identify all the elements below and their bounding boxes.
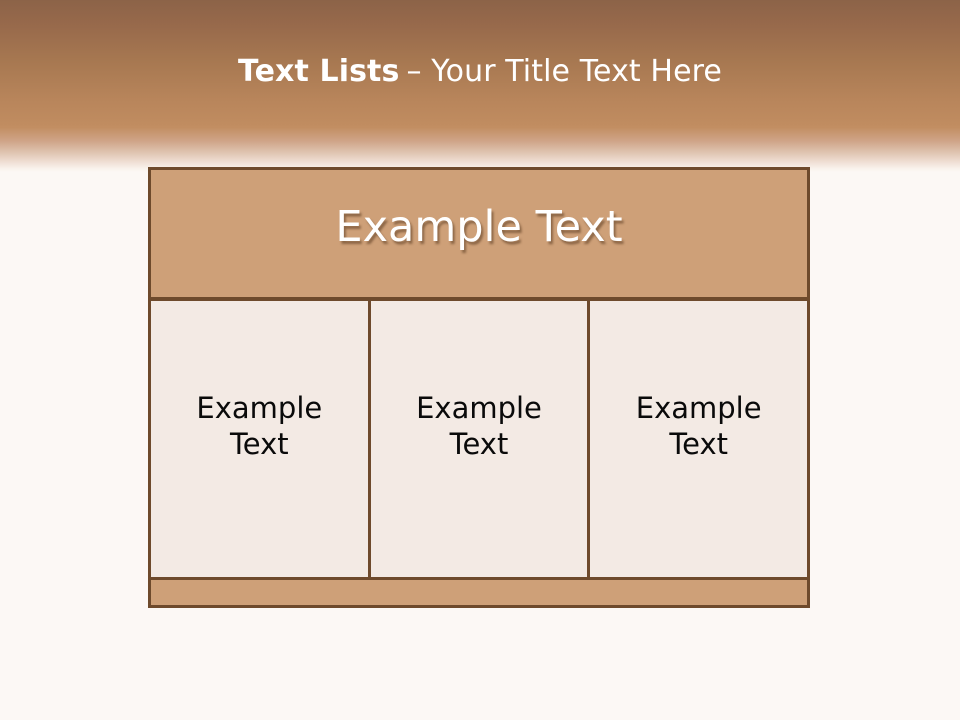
page-title-strong: Text Lists [238,54,399,89]
table-cell-1-label: Example Text [192,390,326,462]
text-list-table: Example Text Example Text Example Text E… [148,167,810,608]
slide-canvas: Text Lists– Your Title Text Here Example… [0,0,960,720]
table-footer-row [151,577,807,605]
table-cell-2[interactable]: Example Text [368,301,588,577]
table-cell-2-label: Example Text [412,390,546,462]
table-body-row: Example Text Example Text Example Text [151,301,807,577]
table-header-label: Example Text [335,204,622,250]
page-title-rest: Your Title Text Here [431,54,722,89]
table-cell-3-label: Example Text [632,390,766,462]
table-header-row: Example Text [151,170,807,301]
page-title: Text Lists– Your Title Text Here [0,54,960,90]
table-cell-1[interactable]: Example Text [151,301,368,577]
title-banner: Text Lists– Your Title Text Here [0,0,960,172]
table-cell-3[interactable]: Example Text [587,301,807,577]
page-title-separator: – [406,54,421,89]
